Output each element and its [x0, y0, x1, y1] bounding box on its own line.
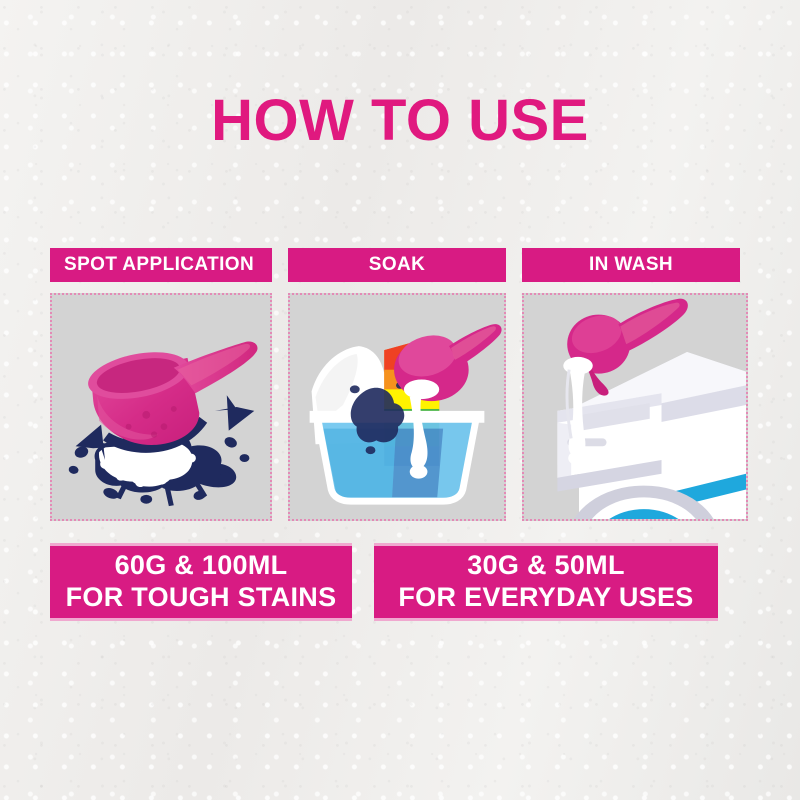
dose-amount-2: 30G & 50ML: [467, 550, 625, 582]
step-soak: SOAK: [288, 248, 506, 282]
scoop-shape: [84, 341, 257, 444]
illustration-scoop-rubbing-stain: [50, 293, 272, 521]
dose-usage-1: FOR TOUGH STAINS: [66, 582, 337, 614]
washing-machine-shape: [557, 352, 746, 519]
illustration-washing-machine-drawer: [522, 293, 748, 521]
dose-amount-1: 60G & 100ML: [115, 550, 288, 582]
step-label-soak: SOAK: [288, 248, 506, 282]
page-title: HOW TO USE: [0, 92, 800, 150]
dose-banner-tough-stains: 60G & 100ML FOR TOUGH STAINS: [50, 543, 352, 621]
illustration-basin-soak: [288, 293, 506, 521]
dose-banner-everyday-uses: 30G & 50ML FOR EVERYDAY USES: [374, 543, 718, 621]
step-label-in-wash: IN WASH: [522, 248, 740, 282]
step-in-wash: IN WASH: [522, 248, 740, 282]
dose-usage-2: FOR EVERYDAY USES: [398, 582, 693, 614]
step-label-spot-application: SPOT APPLICATION: [50, 248, 272, 282]
step-spot-application: SPOT APPLICATION: [50, 248, 272, 282]
